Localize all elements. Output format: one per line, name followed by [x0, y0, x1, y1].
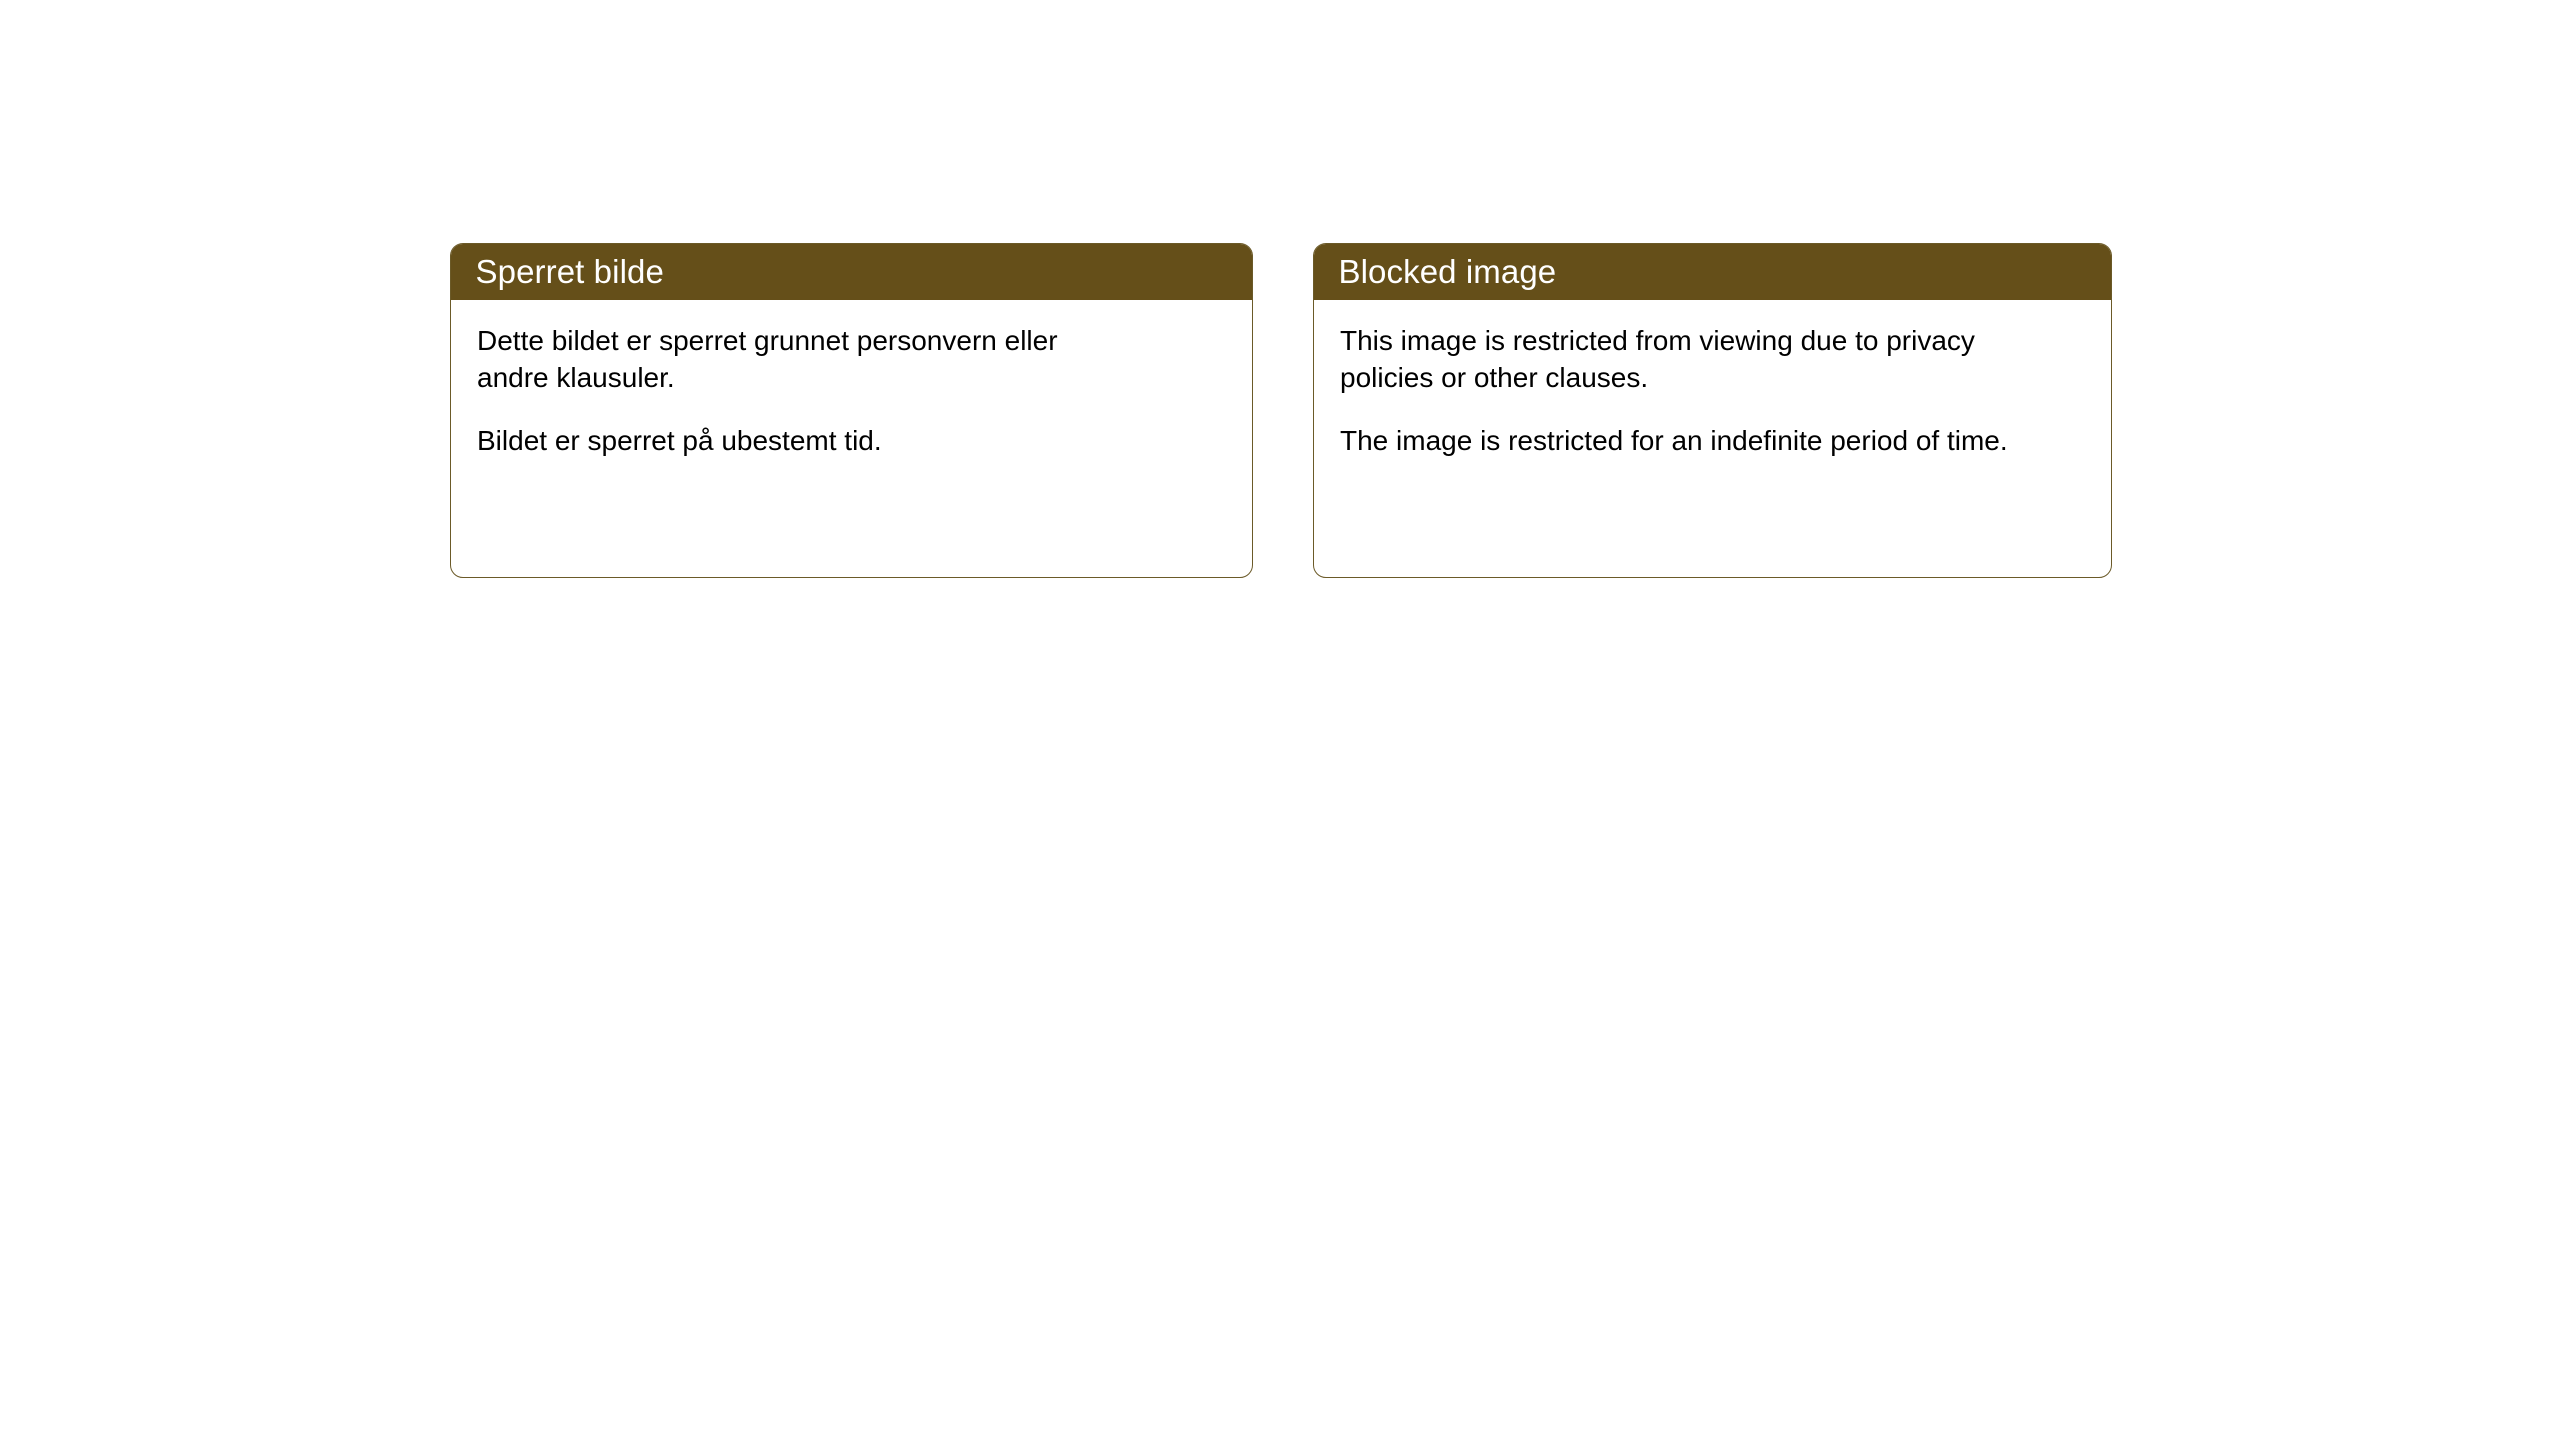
card-paragraph-reason-english: This image is restricted from viewing du…: [1340, 322, 2040, 396]
paragraph-spacer: [477, 396, 1226, 422]
blocked-image-card-norwegian: Sperret bilde Dette bildet er sperret gr…: [450, 243, 1253, 578]
card-title-english: Blocked image: [1339, 255, 1557, 288]
card-paragraph-duration-norwegian: Bildet er sperret på ubestemt tid.: [477, 422, 1117, 459]
card-header-english: Blocked image: [1313, 243, 2112, 300]
card-paragraph-reason-norwegian: Dette bildet er sperret grunnet personve…: [477, 322, 1117, 396]
card-body-english: This image is restricted from viewing du…: [1314, 300, 2111, 578]
card-title-norwegian: Sperret bilde: [476, 255, 664, 288]
card-paragraph-duration-english: The image is restricted for an indefinit…: [1340, 422, 2040, 459]
blocked-image-card-english: Blocked image This image is restricted f…: [1313, 243, 2112, 578]
card-header-norwegian: Sperret bilde: [450, 243, 1253, 300]
blocked-image-notice-area: Sperret bilde Dette bildet er sperret gr…: [450, 243, 2112, 578]
card-body-norwegian: Dette bildet er sperret grunnet personve…: [451, 300, 1252, 578]
paragraph-spacer: [1340, 396, 2085, 422]
